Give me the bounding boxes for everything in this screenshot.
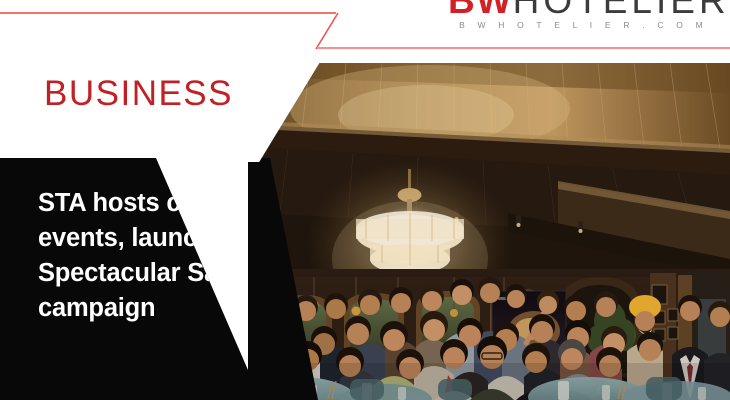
top-rule-diagonal — [315, 12, 339, 50]
category-label: BUSINESS — [44, 74, 233, 114]
diagonal-rule-shape — [315, 12, 339, 50]
event-photo — [258, 63, 730, 400]
seam-shape — [248, 158, 318, 400]
top-rule-left — [0, 12, 336, 14]
panel-photo-seam — [248, 158, 318, 400]
logo-wordmark: BWHOTELIER — [448, 0, 714, 16]
logo-domain-text: B W H O T E L I E R . C O M — [448, 20, 714, 30]
logo-bw-mark: BW — [448, 0, 513, 21]
event-photo-illustration — [258, 63, 730, 400]
logo-hotelier-mark: HOTELIER — [513, 0, 730, 21]
article-headline: STA hosts culinary events, launches Spec… — [38, 186, 276, 326]
bwhotelier-logo[interactable]: BWHOTELIER B W H O T E L I E R . C O M — [448, 0, 714, 30]
top-rule-right — [317, 47, 730, 49]
article-banner-card: BWHOTELIER B W H O T E L I E R . C O M B… — [0, 0, 730, 400]
